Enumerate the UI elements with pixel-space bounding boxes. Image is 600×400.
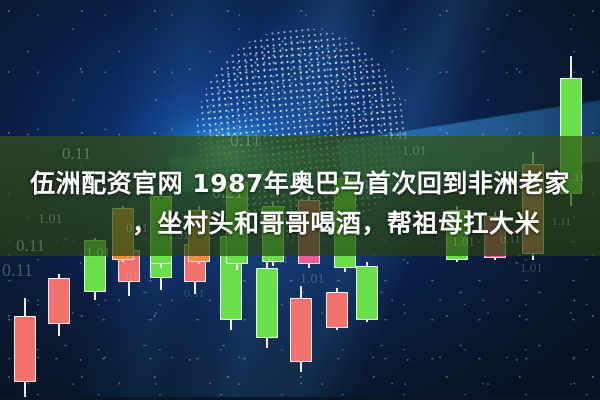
candlestick-bar — [290, 286, 312, 372]
floating-number: 0.11 — [268, 252, 289, 267]
floating-number: 0.11 — [184, 286, 205, 301]
headline-line-2: ，坐村头和哥哥喝酒，帮祖母扛大米 — [14, 204, 586, 244]
floating-number: 1.01 — [116, 268, 139, 284]
candlestick-body — [290, 298, 312, 362]
floating-number: 0.11 — [62, 144, 91, 164]
candlestick-bar — [48, 274, 70, 336]
floating-number: 1.01 — [86, 246, 111, 262]
floating-number: 1.01 — [402, 144, 427, 160]
candlestick-body — [326, 292, 348, 328]
floating-number: 1.01 — [300, 272, 325, 288]
candlestick-body — [356, 266, 378, 320]
headline-line-1: 伍洲配资官网 1987年奥巴马首次回到非洲老家 — [14, 164, 586, 204]
candlestick-body — [48, 278, 70, 324]
candlestick-bar — [256, 262, 278, 348]
candlestick-bar — [14, 298, 36, 400]
floating-number: 0.11 — [230, 130, 261, 151]
candlestick-bar — [356, 262, 378, 322]
floating-number: 0.11 — [2, 260, 33, 281]
floating-number: 1.11 — [388, 128, 409, 143]
banner-image: 0.110.210.111.113.111.010.110.111.010.11… — [0, 0, 600, 400]
candlestick-body — [256, 268, 278, 338]
floating-number: 1.01 — [520, 260, 543, 276]
headline: 伍洲配资官网 1987年奥巴马首次回到非洲老家 ，坐村头和哥哥喝酒，帮祖母扛大米 — [0, 164, 600, 244]
candlestick-bar — [326, 288, 348, 330]
candlestick-body — [14, 316, 36, 382]
